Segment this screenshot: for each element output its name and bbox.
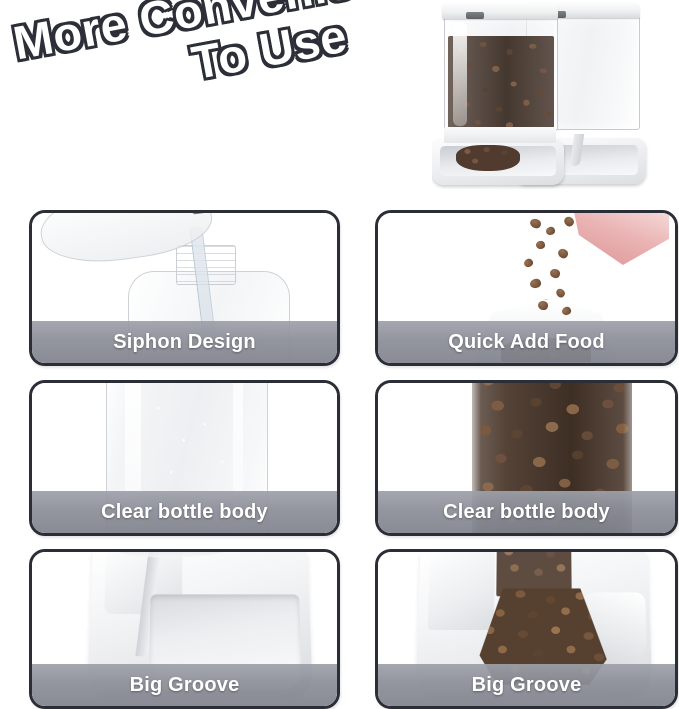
panel-caption-text: Big Groove	[472, 674, 582, 697]
feature-panel-clear-bottle-water[interactable]: Clear bottle body	[29, 380, 340, 536]
feature-panel-quick-add-food[interactable]: Quick Add Food	[375, 210, 678, 366]
feature-panel-big-groove-water[interactable]: Big Groove	[29, 549, 340, 709]
panel-caption-bar: Big Groove	[378, 664, 675, 706]
panel-caption-bar: Quick Add Food	[378, 321, 675, 363]
panel-caption-text: Clear bottle body	[443, 501, 610, 524]
base-tower	[428, 552, 495, 630]
feature-panel-grid: Siphon Design	[0, 0, 679, 709]
feature-panel-clear-bottle-food[interactable]: Clear bottle body	[375, 380, 678, 536]
panel-caption-bar: Clear bottle body	[378, 491, 675, 533]
food-scoop	[573, 213, 669, 265]
panel-caption-bar: Big Groove	[32, 664, 337, 706]
panel-caption-text: Siphon Design	[113, 331, 256, 354]
infographic-canvas: More Convenient To Use	[0, 0, 679, 709]
falling-kibble	[554, 287, 566, 299]
panel-caption-text: Big Groove	[130, 674, 240, 697]
falling-kibble	[549, 268, 561, 279]
feature-panel-big-groove-food[interactable]: Big Groove	[375, 549, 678, 709]
falling-kibble	[529, 278, 542, 290]
panel-caption-text: Clear bottle body	[101, 501, 268, 524]
falling-kibble	[562, 215, 575, 228]
panel-caption-bar: Siphon Design	[32, 321, 337, 363]
falling-kibble	[556, 247, 569, 260]
bottle-cap	[191, 213, 215, 215]
falling-kibble	[545, 226, 556, 237]
feature-panel-siphon-design[interactable]: Siphon Design	[29, 210, 340, 366]
falling-kibble	[538, 301, 549, 311]
falling-kibble	[529, 218, 542, 230]
falling-kibble	[523, 257, 535, 269]
falling-kibble	[535, 240, 545, 249]
panel-caption-text: Quick Add Food	[448, 331, 605, 354]
panel-caption-bar: Clear bottle body	[32, 491, 337, 533]
